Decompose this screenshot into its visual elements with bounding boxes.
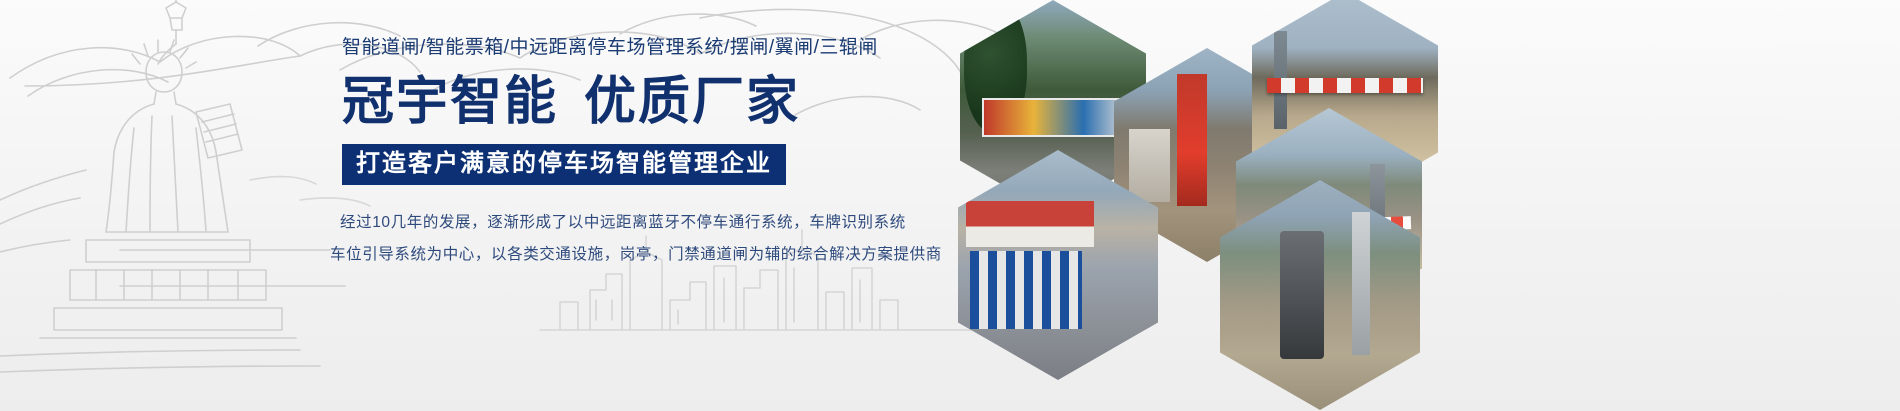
banner-headline: 冠宇智能优质厂家 [330, 75, 950, 130]
headline-brand: 冠宇智能 [342, 73, 558, 131]
banner-subtitle: 智能道闸/智能票箱/中远距离停车场管理系统/摆闸/翼闸/三辊闸 [330, 38, 950, 57]
paragraph-line-1: 经过10几年的发展，逐渐形成了以中远距离蓝牙不停车通行系统，车牌识别系统 [330, 207, 950, 240]
headline-tagline: 优质厂家 [584, 73, 800, 131]
banner-ribbon: 打造客户满意的停车场智能管理企业 [342, 144, 786, 185]
paragraph-line-2: 车位引导系统为中心，以各类交通设施，岗亭，门禁通道闸为辅的综合解决方案提供商 [330, 239, 950, 272]
banner-text-block: 智能道闸/智能票箱/中远距离停车场管理系统/摆闸/翼闸/三辊闸 冠宇智能优质厂家… [330, 38, 950, 338]
hero-banner: 智能道闸/智能票箱/中远距离停车场管理系统/摆闸/翼闸/三辊闸 冠宇智能优质厂家… [0, 0, 1900, 411]
banner-paragraph: 经过10几年的发展，逐渐形成了以中远距离蓝牙不停车通行系统，车牌识别系统 车位引… [330, 207, 950, 272]
hexagon-photo-collage [930, 0, 1630, 411]
statue-of-liberty-lineart [0, 0, 320, 372]
